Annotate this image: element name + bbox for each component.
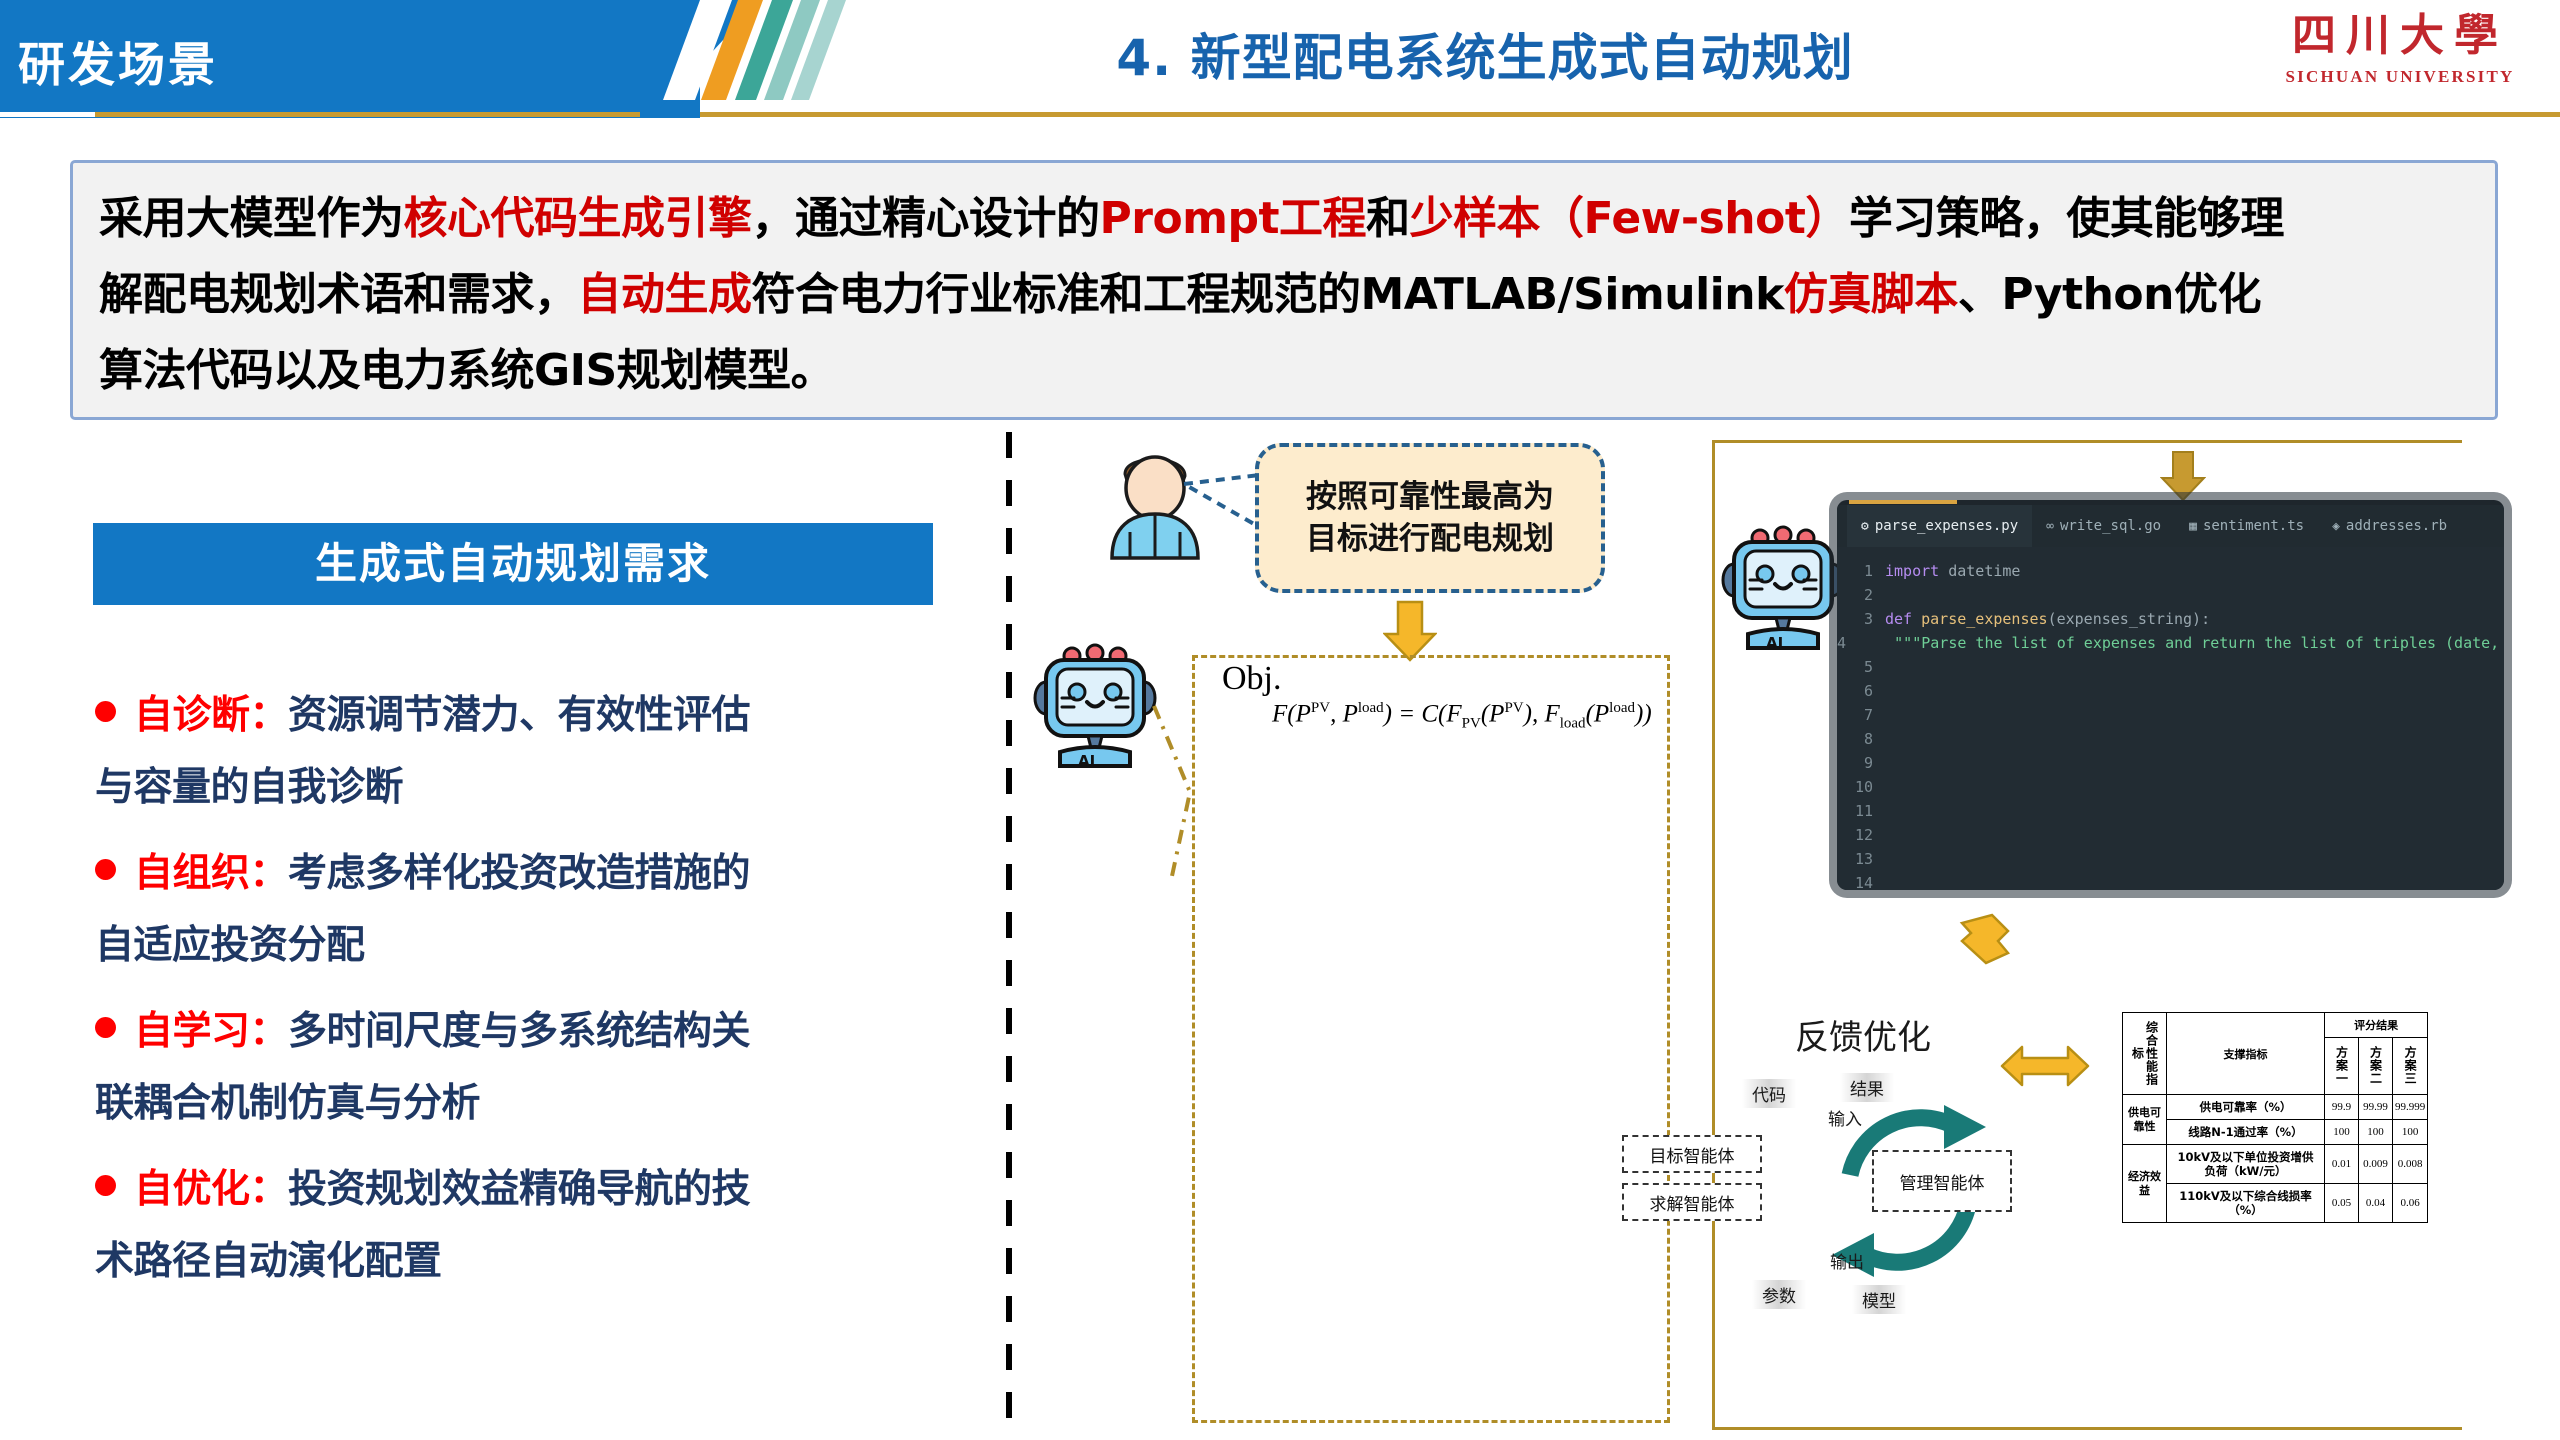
line-number: 9 bbox=[1837, 751, 1885, 775]
agent-box-manager: 管理智能体 bbox=[1872, 1150, 2012, 1212]
arrow-down-left-icon bbox=[1958, 913, 2010, 969]
label-output: 输出 bbox=[1830, 1248, 1864, 1273]
intro-seg-2e: 、Python优化 bbox=[1958, 269, 2261, 320]
bullet-line-2: 与容量的自我诊断 bbox=[95, 752, 955, 824]
bullet-keyword: 自诊断： bbox=[134, 693, 288, 738]
code-line: 3def parse_expenses(expenses_string): bbox=[1837, 607, 2504, 631]
go-icon: ∞ bbox=[2046, 519, 2054, 534]
line-number: 10 bbox=[1837, 775, 1885, 799]
bullet-line-2: 术路径自动演化配置 bbox=[95, 1226, 955, 1298]
objective-dashed-box bbox=[1192, 655, 1670, 1423]
slide-root: 研发场景 4. 新型配电系统生成式自动规划 四川大學 SICHUAN UNIVE… bbox=[0, 0, 2560, 1440]
code-text bbox=[1885, 655, 1894, 679]
cell-indicator: 110kV及以下综合线损率（%） bbox=[2167, 1184, 2325, 1223]
ai-robot-icon: AI bbox=[1030, 640, 1160, 770]
intro-seg-2b: 自动生成 bbox=[578, 269, 752, 320]
cell-value: 100 bbox=[2325, 1120, 2359, 1145]
label-model: 模型 bbox=[1852, 1285, 1906, 1314]
code-text: import datetime bbox=[1885, 559, 2020, 583]
bullet-dot-icon bbox=[95, 1017, 116, 1038]
line-number: 6 bbox=[1837, 679, 1885, 703]
code-line: 6 bbox=[1837, 679, 2504, 703]
cell-value: 100 bbox=[2393, 1120, 2428, 1145]
line-number: 1 bbox=[1837, 559, 1885, 583]
line-number: 4 bbox=[1837, 631, 1858, 655]
left-panel-title: 生成式自动规划需求 bbox=[93, 523, 933, 605]
objective-equation: F(PPV, Pload) = C(FPV(PPV), Fload(Pload)… bbox=[1272, 700, 1652, 732]
line-number: 8 bbox=[1837, 727, 1885, 751]
tab-label: write_sql.go bbox=[2060, 518, 2161, 534]
code-line: 8 bbox=[1837, 727, 2504, 751]
code-editor-window[interactable]: ⚙ parse_expenses.py ∞ write_sql.go ▦ sen… bbox=[1837, 500, 2504, 890]
tab-parse-expenses-py[interactable]: ⚙ parse_expenses.py bbox=[1847, 505, 2032, 547]
tab-label: addresses.rb bbox=[2346, 518, 2447, 534]
list-item: 自组织：考虑多样化投资改造措施的 自适应投资分配 bbox=[95, 838, 955, 982]
bullet-line-2: 联耦合机制仿真与分析 bbox=[95, 1068, 955, 1140]
cell-value: 99.999 bbox=[2393, 1095, 2428, 1120]
page-title: 4. 新型配电系统生成式自动规划 bbox=[760, 18, 2210, 90]
cell-value: 0.06 bbox=[2393, 1184, 2428, 1223]
intro-seg-2c: 符合电力行业标准和工程规范的MATLAB/Simulink bbox=[752, 269, 1784, 320]
bullet-line-1: 自优化：投资规划效益精确导航的技 bbox=[95, 1154, 955, 1226]
code-text bbox=[1885, 847, 1894, 871]
editor-tab-bar[interactable]: ⚙ parse_expenses.py ∞ write_sql.go ▦ sen… bbox=[1837, 505, 2504, 547]
intro-line-3: 算法代码以及电力系统GIS规划模型。 bbox=[99, 333, 2469, 409]
list-item: 自优化：投资规划效益精确导航的技 术路径自动演化配置 bbox=[95, 1154, 955, 1298]
bullet-keyword: 自学习： bbox=[134, 1009, 288, 1054]
label-result: 结果 bbox=[1840, 1073, 1894, 1102]
label-input: 输入 bbox=[1828, 1105, 1862, 1130]
table-row: 供电可靠性 供电可靠率（%） 99.9 99.99 99.999 bbox=[2123, 1095, 2428, 1120]
th-scheme-3: 方案三 bbox=[2393, 1037, 2428, 1094]
bullet-dot-icon bbox=[95, 1175, 116, 1196]
feedback-cycle-diagram: 代码 结果 输入 输出 参数 模型 目标智能体 求解智能体 管理智能体 bbox=[1700, 1035, 2120, 1335]
tab-sentiment-ts[interactable]: ▦ sentiment.ts bbox=[2175, 505, 2318, 547]
speech-line-1: 按照可靠性最高为 bbox=[1306, 479, 1554, 515]
table-row: 经济效益 10kV及以下单位投资增供负荷（kW/元） 0.01 0.009 0.… bbox=[2123, 1145, 2428, 1184]
scene-label: 研发场景 bbox=[18, 26, 218, 95]
cell-value: 0.008 bbox=[2393, 1145, 2428, 1184]
arrow-down-icon bbox=[1383, 600, 1437, 662]
bullet-dot-icon bbox=[95, 701, 116, 722]
label-parameter: 参数 bbox=[1752, 1280, 1806, 1309]
robot-ai-label: AI bbox=[1766, 634, 1783, 652]
cell-indicator: 供电可靠率（%） bbox=[2167, 1095, 2325, 1120]
table-row: 线路N-1通过率（%） 100 100 100 bbox=[2123, 1120, 2428, 1145]
requirements-list: 自诊断：资源调节潜力、有效性评估 与容量的自我诊断 自组织：考虑多样化投资改造措… bbox=[95, 680, 955, 1312]
bullet-line-2: 自适应投资分配 bbox=[95, 910, 955, 982]
code-line: 7 bbox=[1837, 703, 2504, 727]
label-code: 代码 bbox=[1742, 1079, 1796, 1108]
robot-ai-label: AI bbox=[1078, 752, 1095, 770]
cell-value: 0.04 bbox=[2359, 1184, 2393, 1223]
th-scheme-2: 方案二 bbox=[2359, 1037, 2393, 1094]
intro-line-2: 解配电规划术语和需求，自动生成符合电力行业标准和工程规范的MATLAB/Simu… bbox=[99, 257, 2469, 333]
intro-seg-3a: 算法代码以及电力系统GIS规划模型。 bbox=[99, 345, 834, 396]
bullet-line-1: 自诊断：资源调节潜力、有效性评估 bbox=[95, 680, 955, 752]
line-number: 11 bbox=[1837, 799, 1885, 823]
right-panel-top-border bbox=[1712, 440, 2462, 443]
editor-accent-bar bbox=[1849, 500, 1957, 504]
ai-robot-icon: AI bbox=[1718, 522, 1848, 652]
intro-line-1: 采用大模型作为核心代码生成引擎，通过精心设计的Prompt工程和少样本（Few-… bbox=[99, 181, 2469, 257]
code-text bbox=[1885, 679, 1894, 703]
th-result: 评分结果 bbox=[2325, 1013, 2428, 1038]
cell-value: 99.99 bbox=[2359, 1095, 2393, 1120]
bullet-text-1: 资源调节潜力、有效性评估 bbox=[288, 693, 750, 738]
line-number: 7 bbox=[1837, 703, 1885, 727]
line-number: 14 bbox=[1837, 871, 1885, 890]
agent-box-solver: 求解智能体 bbox=[1622, 1183, 1762, 1221]
cell-value: 0.01 bbox=[2325, 1145, 2359, 1184]
line-number: 13 bbox=[1837, 847, 1885, 871]
code-line: 5 bbox=[1837, 655, 2504, 679]
evaluation-results-table: 综合性能指标 支撑指标 评分结果 方案一 方案二 方案三 供电可靠性 供电可靠率… bbox=[2122, 1012, 2428, 1223]
user-speech-bubble: 按照可靠性最高为目标进行配电规划 bbox=[1255, 443, 1605, 593]
code-text bbox=[1885, 799, 1894, 823]
code-text bbox=[1885, 583, 1894, 607]
cell-value: 0.009 bbox=[2359, 1145, 2393, 1184]
intro-seg-1b: 核心代码生成引擎 bbox=[404, 193, 752, 244]
line-number: 5 bbox=[1837, 655, 1885, 679]
sichuan-university-logo: 四川大學 SICHUAN UNIVERSITY bbox=[2250, 5, 2550, 107]
typescript-icon: ▦ bbox=[2189, 519, 2197, 534]
cell-value: 100 bbox=[2359, 1120, 2393, 1145]
bullet-text-1: 考虑多样化投资改造措施的 bbox=[288, 851, 750, 896]
header-rule bbox=[0, 112, 2560, 117]
intro-seg-1e: 和 bbox=[1366, 193, 1410, 244]
code-line: 4 """Parse the list of expenses and retu… bbox=[1837, 631, 2504, 655]
code-line: 11 bbox=[1837, 799, 2504, 823]
bullet-keyword: 自优化： bbox=[134, 1167, 288, 1212]
code-line: 10 bbox=[1837, 775, 2504, 799]
code-text bbox=[1885, 703, 1894, 727]
code-text: """Parse the list of expenses and return… bbox=[1858, 631, 2504, 655]
code-text bbox=[1885, 727, 1894, 751]
list-item: 自学习：多时间尺度与多系统结构关 联耦合机制仿真与分析 bbox=[95, 996, 955, 1140]
intro-textbox: 采用大模型作为核心代码生成引擎，通过精心设计的Prompt工程和少样本（Few-… bbox=[70, 160, 2498, 420]
cell-indicator: 10kV及以下单位投资增供负荷（kW/元） bbox=[2167, 1145, 2325, 1184]
code-line: 2 bbox=[1837, 583, 2504, 607]
bullet-text-1: 投资规划效益精确导航的技 bbox=[288, 1167, 750, 1212]
code-line: 13 bbox=[1837, 847, 2504, 871]
code-line: 1import datetime bbox=[1837, 559, 2504, 583]
table-header-row-1: 综合性能指标 支撑指标 评分结果 bbox=[2123, 1013, 2428, 1038]
objective-label: Obj. bbox=[1222, 660, 1282, 698]
intro-seg-1g: 学习策略，使其能够理 bbox=[1849, 193, 2284, 244]
code-line: 14 bbox=[1837, 871, 2504, 890]
tab-addresses-rb[interactable]: ◈ addresses.rb bbox=[2318, 505, 2461, 547]
cell-value: 99.9 bbox=[2325, 1095, 2359, 1120]
logo-chinese-text: 四川大學 bbox=[2250, 5, 2550, 67]
row-group-economics: 经济效益 bbox=[2123, 1145, 2167, 1223]
cell-indicator: 线路N-1通过率（%） bbox=[2167, 1120, 2325, 1145]
speech-bubble-text: 按照可靠性最高为目标进行配电规划 bbox=[1306, 476, 1554, 560]
code-text bbox=[1885, 775, 1894, 799]
intro-seg-1c: ，通过精心设计的 bbox=[752, 193, 1100, 244]
code-text bbox=[1885, 823, 1894, 847]
cell-value: 0.05 bbox=[2325, 1184, 2359, 1223]
th-metric: 综合性能指标 bbox=[2123, 1013, 2167, 1095]
code-text bbox=[1885, 871, 1894, 890]
intro-seg-2d: 仿真脚本 bbox=[1784, 269, 1958, 320]
tab-label: sentiment.ts bbox=[2203, 518, 2304, 534]
editor-code-area[interactable]: 1import datetime 2 3def parse_expenses(e… bbox=[1837, 547, 2504, 890]
list-item: 自诊断：资源调节潜力、有效性评估 与容量的自我诊断 bbox=[95, 680, 955, 824]
th-scheme-1: 方案一 bbox=[2325, 1037, 2359, 1094]
intro-seg-1f: 少样本（Few-shot） bbox=[1410, 193, 1849, 244]
code-line: 9 bbox=[1837, 751, 2504, 775]
code-text bbox=[1885, 751, 1894, 775]
bullet-dot-icon bbox=[95, 859, 116, 880]
tab-label: parse_expenses.py bbox=[1875, 518, 2018, 534]
ruby-icon: ◈ bbox=[2332, 519, 2340, 534]
line-number: 3 bbox=[1837, 607, 1885, 631]
bullet-keyword: 自组织： bbox=[134, 851, 288, 896]
intro-seg-1d: Prompt工程 bbox=[1100, 193, 1367, 244]
th-support: 支撑指标 bbox=[2167, 1013, 2325, 1095]
line-number: 12 bbox=[1837, 823, 1885, 847]
code-text: def parse_expenses(expenses_string): bbox=[1885, 607, 2210, 631]
bullet-text-1: 多时间尺度与多系统结构关 bbox=[288, 1009, 750, 1054]
tab-write-sql-go[interactable]: ∞ write_sql.go bbox=[2032, 505, 2175, 547]
logo-english-text: SICHUAN UNIVERSITY bbox=[2250, 67, 2550, 87]
vertical-dashed-divider bbox=[1006, 432, 1012, 1432]
row-group-reliability: 供电可靠性 bbox=[2123, 1095, 2167, 1145]
code-line: 12 bbox=[1837, 823, 2504, 847]
intro-seg-1a: 采用大模型作为 bbox=[99, 193, 404, 244]
line-number: 2 bbox=[1837, 583, 1885, 607]
agent-box-goal: 目标智能体 bbox=[1622, 1135, 1762, 1173]
speech-line-2: 目标进行配电规划 bbox=[1306, 521, 1554, 557]
bullet-line-1: 自学习：多时间尺度与多系统结构关 bbox=[95, 996, 955, 1068]
python-icon: ⚙ bbox=[1861, 519, 1869, 534]
intro-seg-2a: 解配电规划术语和需求， bbox=[99, 269, 578, 320]
arrow-down-into-editor-icon bbox=[2160, 450, 2206, 502]
table-row: 110kV及以下综合线损率（%） 0.05 0.04 0.06 bbox=[2123, 1184, 2428, 1223]
bullet-line-1: 自组织：考虑多样化投资改造措施的 bbox=[95, 838, 955, 910]
